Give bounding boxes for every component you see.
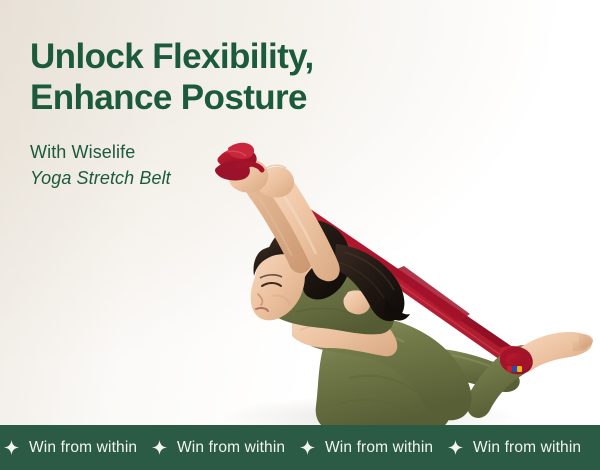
- sparkle-icon: [4, 440, 19, 455]
- sparkle-icon: [300, 440, 315, 455]
- marquee-label: Win from within: [473, 439, 581, 457]
- headline-line-2: Enhance Posture: [30, 77, 314, 118]
- buckle-blue: [512, 366, 517, 372]
- bottom-marquee-banner: Win from within Win from within Win from…: [0, 425, 600, 470]
- poster-canvas: Unlock Flexibility, Enhance Posture With…: [0, 0, 600, 470]
- buckle-red: [507, 366, 512, 372]
- subheadline-line-2: Yoga Stretch Belt: [30, 166, 314, 190]
- copy-block: Unlock Flexibility, Enhance Posture With…: [30, 36, 314, 190]
- subheadline-block: With Wiselife Yoga Stretch Belt: [30, 140, 314, 190]
- marquee-item: Win from within: [448, 439, 596, 457]
- sparkle-icon: [448, 440, 463, 455]
- sparkle-icon: [152, 440, 167, 455]
- marquee-label: Win from within: [29, 439, 137, 457]
- marquee-item: Win from within: [152, 439, 300, 457]
- marquee-item: Win from within: [4, 439, 152, 457]
- subheadline-line-1: With Wiselife: [30, 140, 314, 164]
- marquee-label: Win from within: [325, 439, 433, 457]
- buckle-yellow: [517, 366, 522, 372]
- headline-line-1: Unlock Flexibility,: [30, 36, 314, 77]
- marquee-track: Win from within Win from within Win from…: [0, 439, 600, 457]
- marquee-label: Win from within: [177, 439, 285, 457]
- marquee-item: Win from within: [300, 439, 448, 457]
